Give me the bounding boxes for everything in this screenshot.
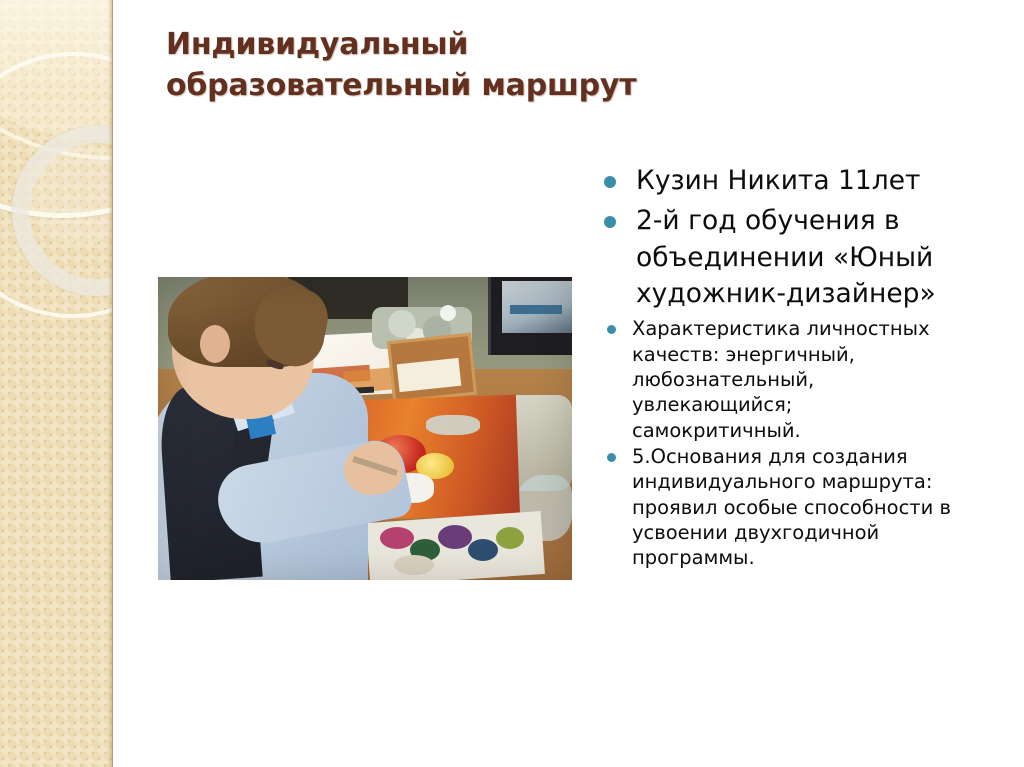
bullet-marker-icon [607, 453, 616, 462]
list-item-text: 2-й год обучения в объединении «Юный худ… [636, 203, 1010, 312]
list-item-text: Характеристика личностных качеств: энерг… [632, 316, 962, 443]
decorative-side-panel [0, 0, 113, 767]
bullet-marker-icon [607, 325, 616, 334]
list-item: 5.Основания для создания индивидуального… [600, 444, 1010, 571]
slide-title: Индивидуальный образовательный маршрут [166, 24, 686, 107]
bullet-marker-icon [604, 216, 616, 228]
panel-edge-line [112, 0, 113, 767]
list-item: 2-й год обучения в объединении «Юный худ… [600, 203, 1010, 312]
slide-photo [158, 277, 572, 580]
bullet-list: Кузин Никита 11лет 2-й год обучения в об… [600, 163, 1010, 572]
photo-vignette [158, 277, 572, 580]
bullet-marker-icon [604, 176, 616, 188]
slide: Индивидуальный образовательный маршрут [0, 0, 1024, 767]
list-item: Характеристика личностных качеств: энерг… [600, 316, 1010, 443]
list-item-text: 5.Основания для создания индивидуального… [632, 444, 962, 571]
list-item: Кузин Никита 11лет [600, 163, 1010, 199]
list-item-text: Кузин Никита 11лет [636, 163, 920, 199]
